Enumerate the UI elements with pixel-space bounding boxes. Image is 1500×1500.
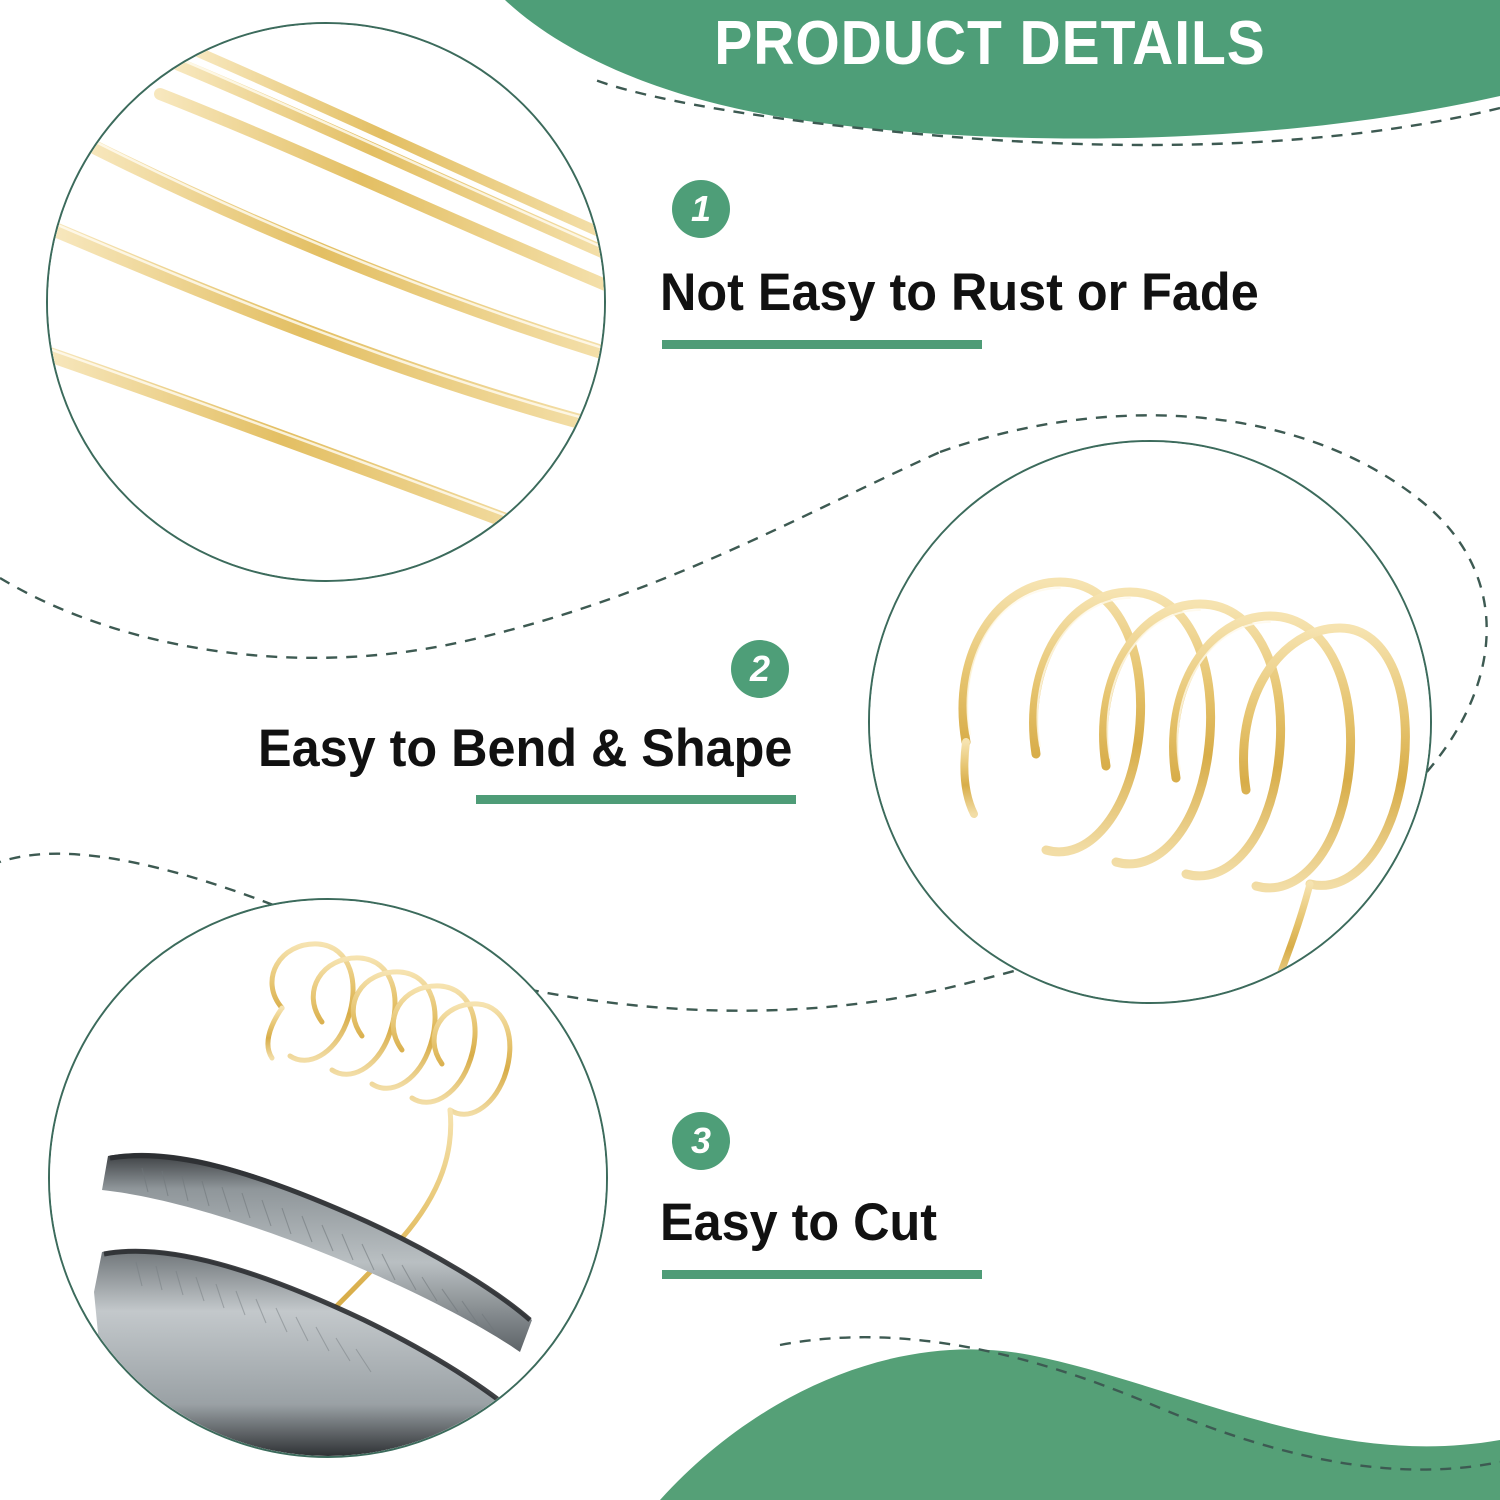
feature-title-3: Easy to Cut bbox=[660, 1192, 937, 1253]
gold-wire-coil-illustration bbox=[870, 442, 1430, 1002]
gold-wire-coil-photo bbox=[868, 440, 1432, 1004]
feature-title-2: Easy to Bend & Shape bbox=[258, 718, 792, 779]
footer-wave-shape bbox=[660, 1349, 1500, 1500]
gold-wire-strands-illustration bbox=[48, 24, 604, 580]
feature-underline-2 bbox=[476, 795, 796, 804]
scissors-cutting-wire-photo bbox=[48, 898, 608, 1458]
infographic-canvas: PRODUCT DETAILS bbox=[0, 0, 1500, 1500]
feature-badge-2: 2 bbox=[731, 640, 789, 698]
feature-badge-1: 1 bbox=[672, 180, 730, 238]
page-title: PRODUCT DETAILS bbox=[668, 8, 1312, 79]
dashed-curve-bottom bbox=[780, 1337, 1500, 1469]
gold-wire-strands-photo bbox=[46, 22, 606, 582]
feature-underline-3 bbox=[662, 1270, 982, 1279]
feature-badge-3: 3 bbox=[672, 1112, 730, 1170]
dashed-curve-top bbox=[590, 78, 1500, 145]
scissors-cutting-wire-illustration bbox=[50, 900, 606, 1456]
feature-underline-1 bbox=[662, 340, 982, 349]
feature-title-1: Not Easy to Rust or Fade bbox=[660, 262, 1259, 323]
